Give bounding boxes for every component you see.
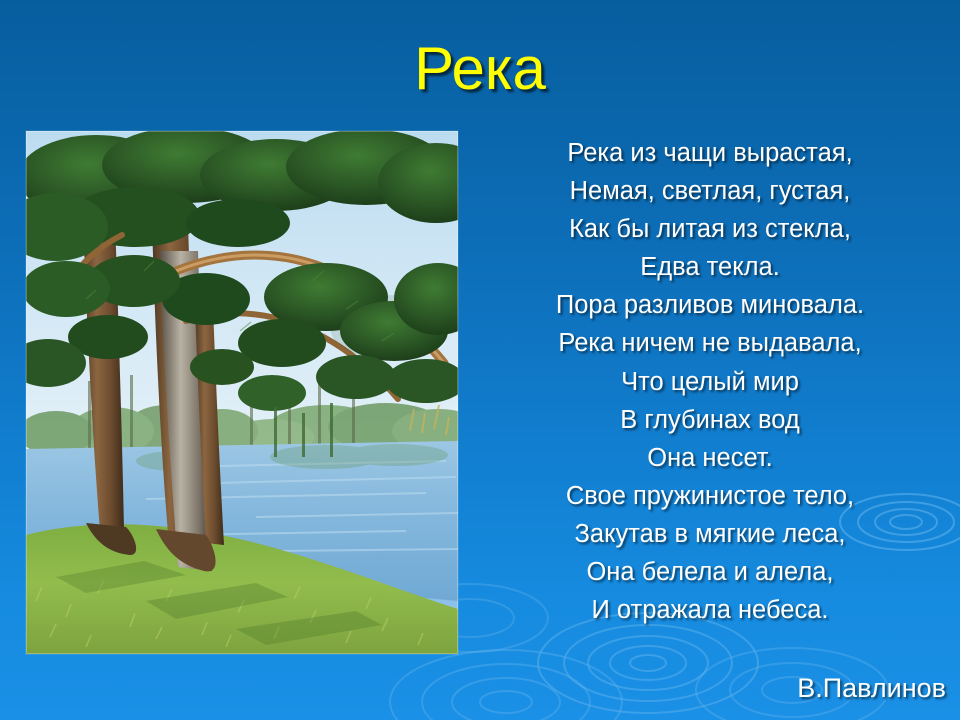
poem-line: Как бы литая из стекла,: [470, 210, 950, 248]
poem-line: Река из чащи вырастая,: [470, 134, 950, 172]
poem-line: Немая, светлая, густая,: [470, 172, 950, 210]
poem-line: Река ничем не выдавала,: [470, 324, 950, 362]
page-title: Река: [0, 36, 960, 102]
poem-line: Свое пружинистое тело,: [470, 477, 950, 515]
poem-author: В.Павлинов: [797, 672, 946, 704]
poem-line: Пора разливов миновала.: [470, 286, 950, 324]
poem-line: Она белела и алела,: [470, 553, 950, 591]
poem-line: В глубинах вод: [470, 401, 950, 439]
river-photo: [26, 131, 458, 654]
slide: Река Река из чащи вырастая, Немая, светл…: [0, 0, 960, 720]
poem-line: Закутав в мягкие леса,: [470, 515, 950, 553]
poem-line: Едва текла.: [470, 248, 950, 286]
poem-text: Река из чащи вырастая, Немая, светлая, г…: [470, 134, 950, 629]
poem-line: И отражала небеса.: [470, 591, 950, 629]
poem-line: Что целый мир: [470, 363, 950, 401]
poem-line: Она несет.: [470, 439, 950, 477]
